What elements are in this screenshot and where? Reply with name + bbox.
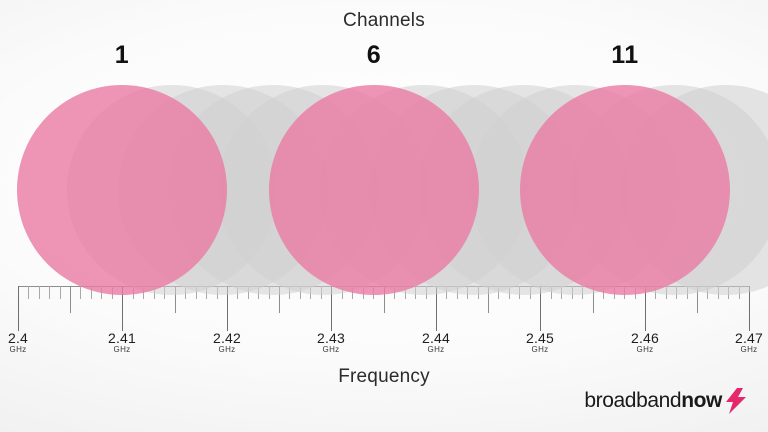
channel-circle-highlighted: [269, 85, 479, 295]
channel-circle-highlighted: [520, 85, 730, 295]
frequency-tick-unit: GHz: [77, 345, 167, 354]
frequency-tick-unit: GHz: [182, 345, 272, 354]
channel-number-label: 6: [334, 41, 414, 70]
frequency-tick-unit: GHz: [600, 345, 690, 354]
frequency-tick-value: 2.46: [600, 330, 690, 346]
frequency-tick-value: 2.41: [77, 330, 167, 346]
frequency-tick-label: 2.42GHz: [182, 330, 272, 354]
frequency-tick-unit: GHz: [0, 345, 63, 354]
frequency-tick-value: 2.4: [0, 330, 63, 346]
channel-number-label: 1: [82, 41, 162, 70]
frequency-tick-label: 2.41GHz: [77, 330, 167, 354]
axis-tick-major: [749, 286, 750, 331]
logo-text-light: broadband: [584, 389, 681, 412]
chart-title-frequency: Frequency: [0, 366, 768, 388]
axis-tick-minor: [28, 286, 29, 299]
frequency-tick-label: 2.43GHz: [286, 330, 376, 354]
axis-tick-minor: [39, 286, 40, 299]
frequency-tick-unit: GHz: [391, 345, 481, 354]
axis-tick-mid: [70, 286, 71, 313]
frequency-tick-label: 2.47GHz: [704, 330, 768, 354]
frequency-tick-label: 2.44GHz: [391, 330, 481, 354]
frequency-tick-unit: GHz: [286, 345, 376, 354]
frequency-tick-value: 2.45: [495, 330, 585, 346]
frequency-tick-label: 2.4GHz: [0, 330, 63, 354]
axis-tick-minor: [80, 286, 81, 299]
frequency-tick-value: 2.47: [704, 330, 768, 346]
frequency-tick-value: 2.42: [182, 330, 272, 346]
axis-tick-minor: [60, 286, 61, 299]
frequency-tick-label: 2.45GHz: [495, 330, 585, 354]
frequency-tick-value: 2.43: [286, 330, 376, 346]
logo-wordmark: broadbandnow: [584, 389, 722, 413]
frequency-tick-unit: GHz: [704, 345, 768, 354]
lightning-bolt-icon: [726, 388, 746, 414]
axis-tick-major: [18, 286, 19, 331]
frequency-tick-value: 2.44: [391, 330, 481, 346]
channel-circle-highlighted: [17, 85, 227, 295]
logo-text-bold: now: [681, 389, 722, 412]
channel-number-label: 11: [585, 41, 665, 70]
wifi-channel-chart: Channels 1611 2.4GHz2.41GHz2.42GHz2.43GH…: [0, 0, 768, 432]
axis-tick-minor: [49, 286, 50, 299]
frequency-tick-label: 2.46GHz: [600, 330, 690, 354]
frequency-tick-unit: GHz: [495, 345, 585, 354]
broadbandnow-logo[interactable]: broadbandnow: [584, 388, 746, 414]
